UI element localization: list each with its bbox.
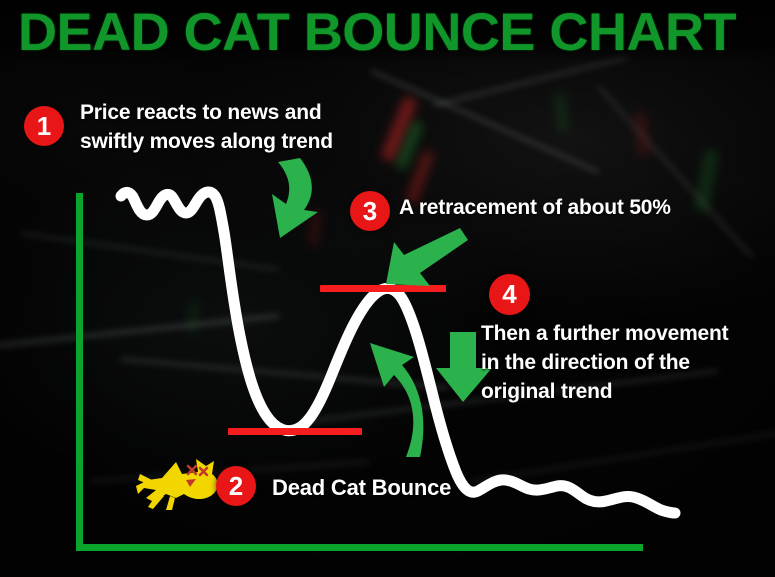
dead-cat-icon bbox=[136, 452, 222, 512]
callout-text-4-line-1: Then a further movement bbox=[481, 319, 766, 348]
callout-badge-4[interactable]: 4 bbox=[489, 274, 530, 315]
callout-text-1: Price reacts to news and swiftly moves a… bbox=[80, 98, 400, 156]
straight-arrow-down-left-icon bbox=[382, 224, 472, 296]
callout-badge-3[interactable]: 3 bbox=[350, 191, 390, 231]
callout-text-4: Then a further movement in the direction… bbox=[481, 319, 766, 406]
infographic-canvas: DEAD CAT BOUNCE CHART bbox=[0, 0, 775, 577]
callout-text-3: A retracement of about 50% bbox=[399, 194, 729, 222]
callout-text-1-line-2: swiftly moves along trend bbox=[80, 127, 400, 156]
callout-text-2: Dead Cat Bounce bbox=[272, 474, 451, 502]
callout-badge-1[interactable]: 1 bbox=[24, 106, 64, 146]
callout-text-4-line-2: in the direction of the bbox=[481, 348, 766, 377]
callout-badge-2[interactable]: 2 bbox=[216, 466, 256, 506]
callout-text-1-line-1: Price reacts to news and bbox=[80, 98, 400, 127]
callout-text-4-line-3: original trend bbox=[481, 377, 766, 406]
curved-arrow-down-left-icon bbox=[228, 150, 348, 245]
